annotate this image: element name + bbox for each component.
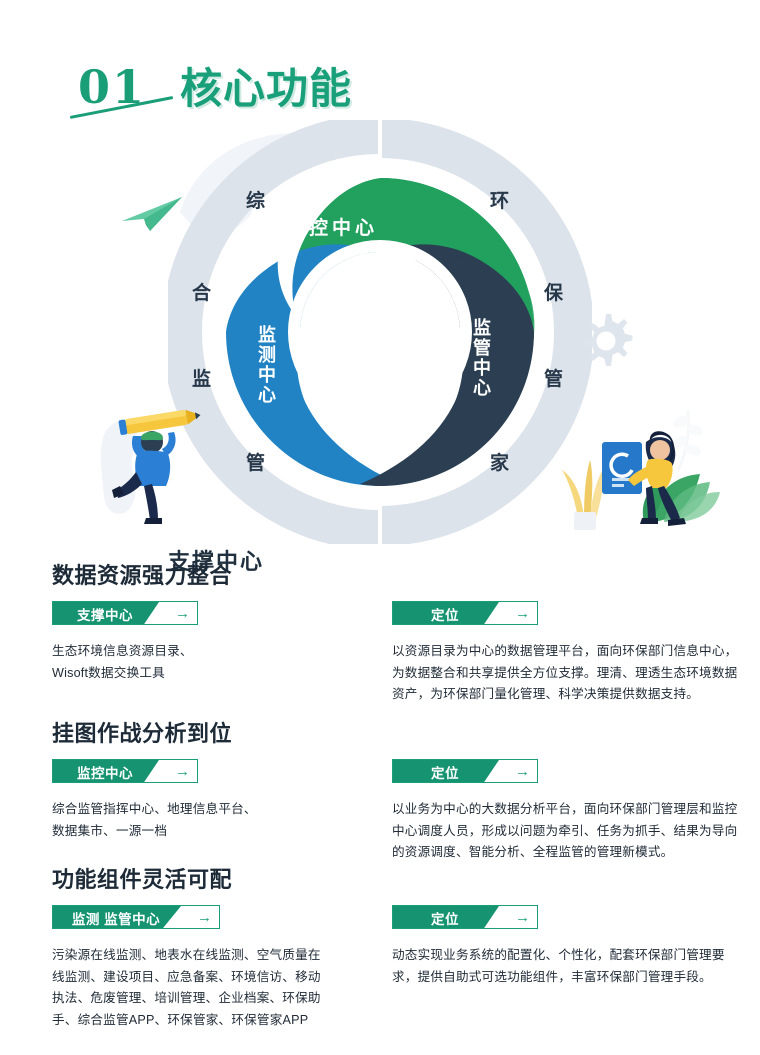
woman-with-chart-illustration	[560, 400, 756, 530]
arrow-right-icon: →	[515, 906, 530, 928]
ring-label-right-3: 管	[544, 370, 563, 389]
ring-label-left-4: 管	[246, 454, 265, 473]
page-title: 核心功能	[180, 68, 352, 110]
arrow-right-icon: →	[175, 602, 190, 624]
section-number: 01	[78, 64, 146, 110]
section-2-left-text: 综合监管指挥中心、地理信息平台、 数据集市、一源一档	[52, 799, 392, 842]
section-2: 挂图作战分析到位 监控中心 → 综合监管指挥中心、地理信息平台、 数据集市、一源…	[0, 706, 760, 854]
section-1-title: 数据资源强力整合	[52, 558, 232, 590]
section-1: 数据资源强力整合 支撑中心 → 生态环境信息资源目录、 Wisoft数据交换工具	[0, 548, 760, 706]
section-3-left-text: 污染源在线监测、地表水在线监测、空气质量在线监测、建设项目、应急备案、环境信访、…	[52, 945, 324, 1032]
ring-label-right-2: 保	[544, 284, 563, 303]
section-2-left-line-1: 综合监管指挥中心、地理信息平台、	[52, 799, 392, 821]
section-1-left-line-2: Wisoft数据交换工具	[52, 663, 392, 685]
section-2-left-badge-label: 监控中心	[53, 760, 157, 784]
section-2-left: 监控中心 → 综合监管指挥中心、地理信息平台、 数据集市、一源一档	[52, 759, 392, 864]
section-2-right: 定位 → 以业务为中心的大数据分析平台，面向环保部门管理层和监控中心调度人员，形…	[392, 759, 742, 864]
three-center-pinwheel-diagram: 综 合 监 管 环 保 管 家 监控中心 监测中心 监管中心 支撑中心	[168, 120, 592, 544]
section-3-left: 监测 监管中心 → 污染源在线监测、地表水在线监测、空气质量在线监测、建设项目、…	[52, 905, 392, 1032]
section-1-right: 定位 → 以资源目录为中心的数据管理平台，面向环保部门信息中心，为数据整合和共享…	[392, 601, 742, 706]
ring-label-right-4: 家	[490, 454, 509, 473]
section-3-right: 定位 → 动态实现业务系统的配置化、个性化，配套环保部门管理要求，提供自助式可选…	[392, 905, 742, 1032]
section-1-right-badge[interactable]: 定位 →	[392, 601, 538, 625]
section-1-left-badge[interactable]: 支撑中心 →	[52, 601, 198, 625]
ring-label-left-1: 综	[246, 192, 265, 211]
section-2-title: 挂图作战分析到位	[52, 716, 232, 748]
chart-board	[602, 442, 642, 494]
wheat-plant-illustration	[562, 460, 606, 530]
paper-plane-icon	[120, 195, 186, 235]
section-2-right-badge-label: 定位	[393, 760, 497, 784]
ring-gap-bottom	[378, 502, 382, 544]
section-1-left-line-1: 生态环境信息资源目录、	[52, 641, 392, 663]
section-3: 功能组件灵活可配 监测 监管中心 → 污染源在线监测、地表水在线监测、空气质量在…	[0, 854, 760, 1024]
section-3-left-badge-label: 监测 监管中心	[53, 906, 179, 930]
ring-gap-top	[378, 120, 382, 162]
arrow-right-icon: →	[197, 906, 212, 928]
section-1-left: 支撑中心 → 生态环境信息资源目录、 Wisoft数据交换工具	[52, 601, 392, 706]
person-with-pencil-illustration	[100, 402, 222, 528]
ring-label-right-1: 环	[490, 192, 509, 211]
gear-icon	[575, 312, 637, 374]
section-1-left-text: 生态环境信息资源目录、 Wisoft数据交换工具	[52, 641, 392, 684]
branch-decoration	[671, 410, 705, 470]
ring-label-left-3: 监	[192, 370, 211, 389]
section-3-title: 功能组件灵活可配	[52, 862, 232, 894]
diagram-center-circle	[300, 252, 460, 412]
section-2-left-line-2: 数据集市、一源一档	[52, 821, 392, 843]
section-1-right-badge-label: 定位	[393, 602, 497, 626]
poster-page: 01 核心功能	[0, 0, 760, 1055]
section-1-right-text: 以资源目录为中心的数据管理平台，面向环保部门信息中心，为数据整合和共享提供全方位…	[392, 641, 742, 706]
section-3-right-badge-label: 定位	[393, 906, 497, 930]
section-2-left-badge[interactable]: 监控中心 →	[52, 759, 198, 783]
section-3-left-badge[interactable]: 监测 监管中心 →	[52, 905, 220, 929]
section-3-right-badge[interactable]: 定位 →	[392, 905, 538, 929]
section-3-right-text: 动态实现业务系统的配置化、个性化，配套环保部门管理要求，提供自助式可选功能组件，…	[392, 945, 742, 988]
arrow-right-icon: →	[515, 760, 530, 782]
diagram-svg	[168, 120, 592, 544]
ring-label-left-2: 合	[192, 284, 211, 303]
section-2-right-badge[interactable]: 定位 →	[392, 759, 538, 783]
page-header: 01 核心功能	[78, 50, 352, 110]
arrow-right-icon: →	[515, 602, 530, 624]
arrow-right-icon: →	[175, 760, 190, 782]
section-1-left-badge-label: 支撑中心	[53, 602, 157, 626]
content-sections: 数据资源强力整合 支撑中心 → 生态环境信息资源目录、 Wisoft数据交换工具	[0, 548, 760, 1024]
